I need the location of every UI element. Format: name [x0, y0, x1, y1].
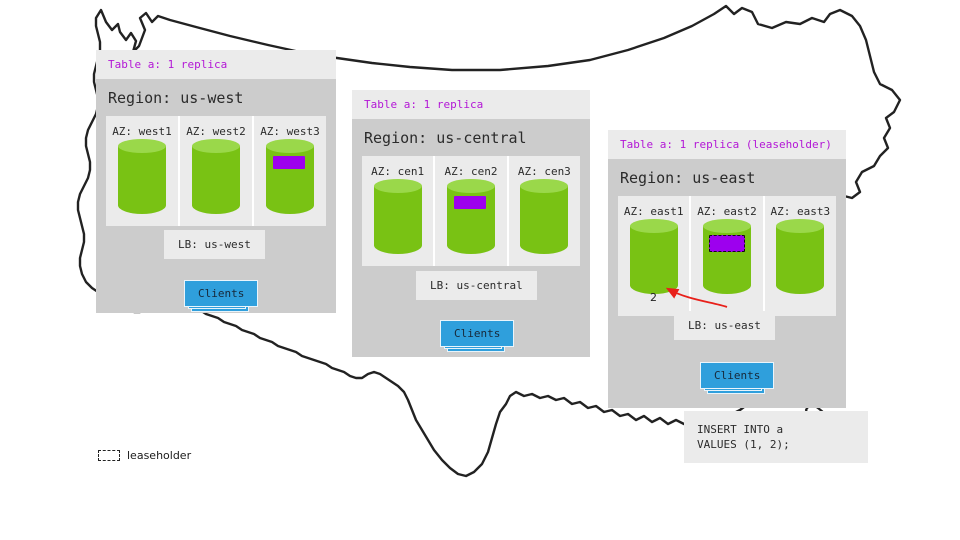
annotation-label-2: 2 [650, 292, 657, 303]
leaseholder-swatch-icon [98, 450, 120, 461]
legend-leaseholder: leaseholder [98, 450, 191, 461]
diagram-canvas: Table a: 1 replica Region: us-west AZ: w… [0, 0, 960, 540]
arrow-lb-to-east1 [668, 289, 727, 307]
legend-label: leaseholder [127, 450, 191, 461]
